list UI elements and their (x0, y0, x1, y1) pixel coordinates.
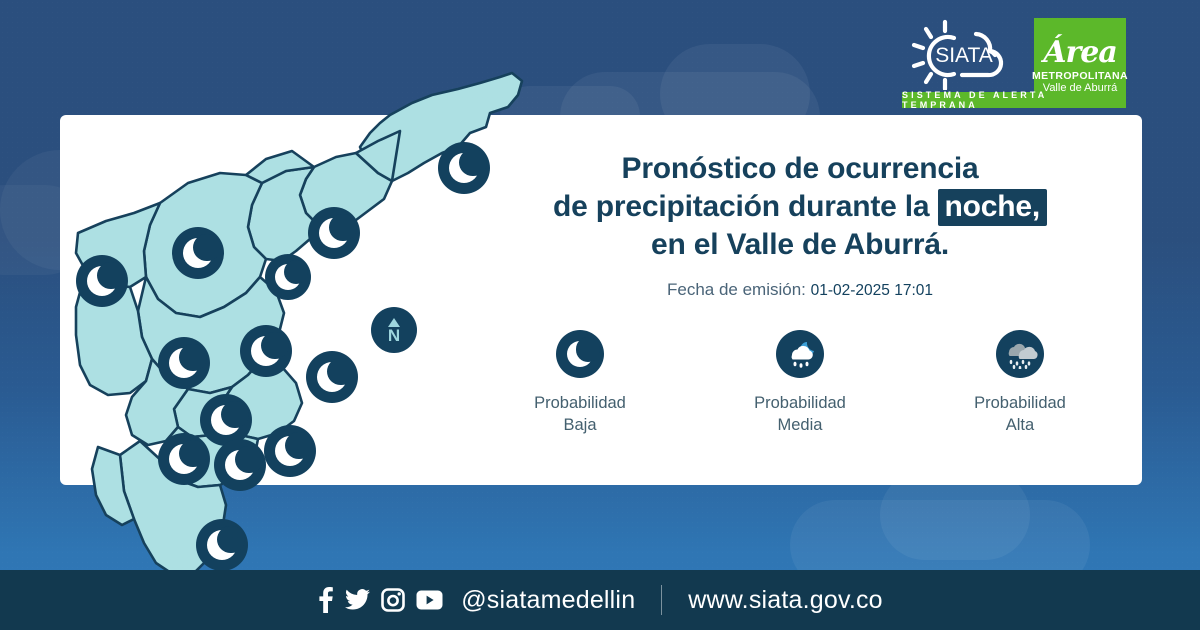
youtube-icon[interactable] (416, 590, 443, 610)
issue-date-label: Fecha de emisión: (667, 280, 806, 299)
compass-north-icon: N (371, 307, 417, 353)
moon-icon (76, 255, 128, 307)
cloud-heavy-rain-icon (996, 330, 1044, 378)
logo-group: SIATA Área METROPOLITANA Valle de Aburrá (906, 18, 1126, 98)
facebook-icon[interactable] (317, 587, 334, 613)
period-highlight: noche, (938, 189, 1047, 226)
tagline-bar: SISTEMA DE ALERTA TEMPRANA (902, 92, 1126, 108)
issue-date-value: 01-02-2025 17:01 (811, 282, 933, 299)
moon-icon (240, 325, 292, 377)
title-line-1: Pronóstico de ocurrencia (470, 150, 1130, 188)
legend-label-line-2: Baja (534, 414, 626, 436)
moon-icon (265, 254, 311, 300)
compass-label: N (388, 328, 400, 343)
probability-legend: Probabilidad Baja Probabilidad Media (470, 330, 1130, 436)
siata-logo: SIATA (906, 18, 1024, 90)
legend-label-line-1: Probabilidad (754, 392, 846, 414)
valle-de-aburra-map: N (60, 55, 530, 575)
moon-icon (214, 439, 266, 491)
legend-item-baja: Probabilidad Baja (490, 330, 670, 436)
instagram-icon[interactable] (381, 588, 405, 612)
moon-icon (196, 519, 248, 571)
map-marker[interactable] (240, 325, 292, 377)
legend-label-alta: Probabilidad Alta (974, 392, 1066, 436)
legend-label-line-2: Media (754, 414, 846, 436)
legend-label-media: Probabilidad Media (754, 392, 846, 436)
cloud-moon-rain-icon (776, 330, 824, 378)
map-marker[interactable] (264, 425, 316, 477)
title-line-2: de precipitación durante la noche, (470, 188, 1130, 226)
moon-icon (306, 351, 358, 403)
title-line-2-text: de precipitación durante la (553, 190, 938, 223)
moon-icon (556, 330, 604, 378)
infographic-canvas: SIATA Área METROPOLITANA Valle de Aburrá… (0, 0, 1200, 630)
legend-label-line-1: Probabilidad (534, 392, 626, 414)
title-line-3: en el Valle de Aburrá. (470, 226, 1130, 264)
map-marker[interactable] (158, 337, 210, 389)
legend-label-baja: Probabilidad Baja (534, 392, 626, 436)
map-marker[interactable] (196, 519, 248, 571)
moon-icon (308, 207, 360, 259)
sun-cloud-icon: SIATA (906, 18, 1024, 90)
twitter-icon[interactable] (345, 589, 370, 611)
map-polygons (60, 55, 530, 575)
siata-wordmark: SIATA (935, 44, 993, 67)
legend-item-alta: Probabilidad Alta (930, 330, 1110, 436)
moon-icon (264, 425, 316, 477)
map-marker[interactable] (158, 433, 210, 485)
map-marker[interactable] (214, 439, 266, 491)
moon-icon (158, 433, 210, 485)
map-marker[interactable] (306, 351, 358, 403)
social-handle[interactable]: @siatamedellin (461, 586, 635, 615)
legend-item-media: Probabilidad Media (710, 330, 890, 436)
moon-icon (158, 337, 210, 389)
area-script-text: Área (1043, 38, 1117, 68)
map-marker[interactable] (308, 207, 360, 259)
area-metropolitana-logo: Área METROPOLITANA Valle de Aburrá (1034, 18, 1126, 98)
website-url[interactable]: www.siata.gov.co (688, 586, 882, 615)
footer-bar: @siatamedellin www.siata.gov.co (0, 570, 1200, 630)
map-marker[interactable] (172, 227, 224, 279)
headline-panel: Pronóstico de ocurrencia de precipitació… (470, 150, 1130, 300)
map-marker[interactable] (76, 255, 128, 307)
issue-date: Fecha de emisión: 01-02-2025 17:01 (470, 280, 1130, 300)
legend-label-line-2: Alta (974, 414, 1066, 436)
moon-icon (172, 227, 224, 279)
footer-divider (661, 585, 662, 615)
page-title: Pronóstico de ocurrencia de precipitació… (470, 150, 1130, 264)
area-line-1: METROPOLITANA (1032, 70, 1128, 82)
map-marker[interactable] (265, 254, 311, 300)
legend-label-line-1: Probabilidad (974, 392, 1066, 414)
social-icon-group (317, 587, 443, 613)
